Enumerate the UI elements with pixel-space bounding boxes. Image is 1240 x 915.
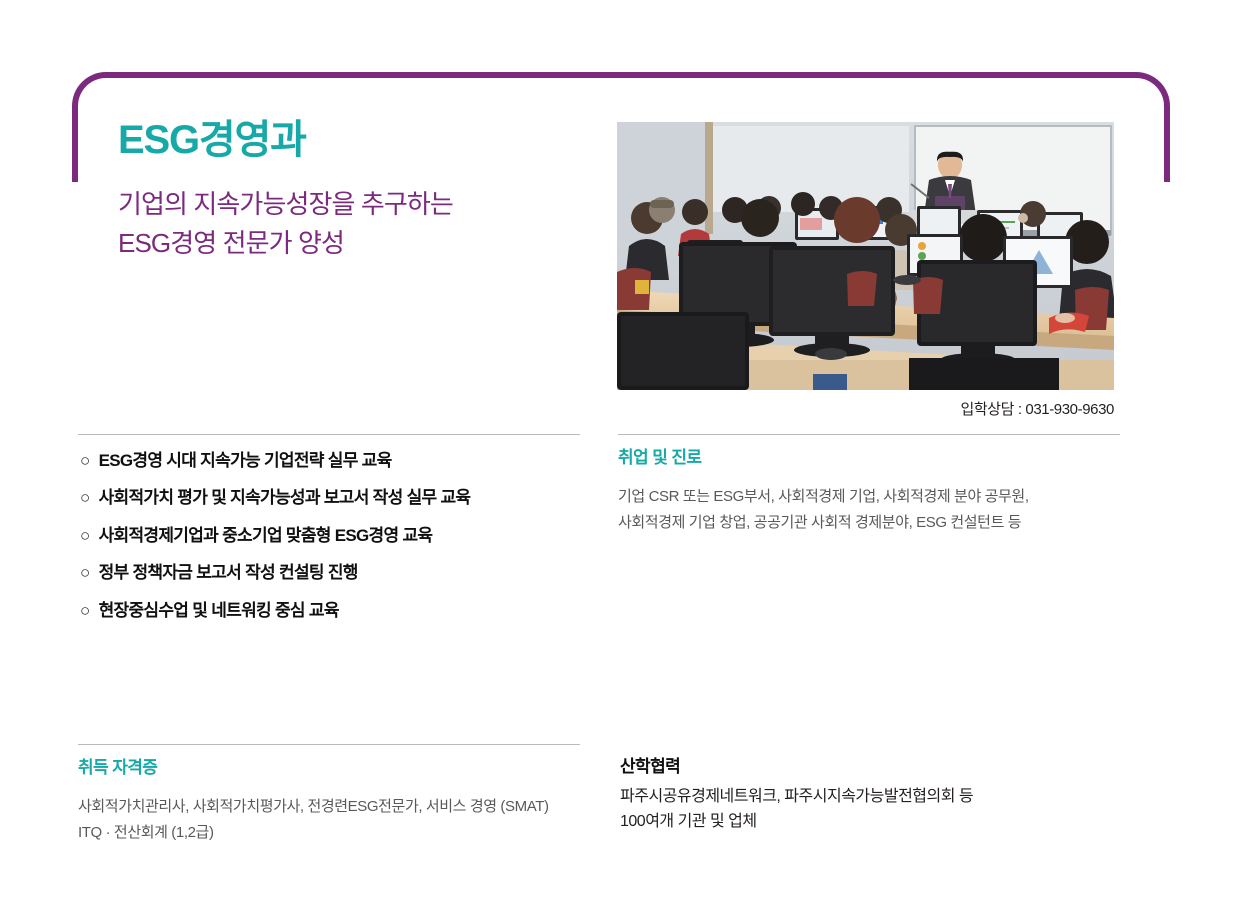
industry-cooperation-section: 산학협력 파주시공유경제네트워크, 파주시지속가능발전협의회 등 100여개 기… <box>620 756 1120 835</box>
certifications-section-title: 취득 자격증 <box>78 758 598 778</box>
industry-cooperation-body: 파주시공유경제네트워크, 파주시지속가능발전협의회 등 100여개 기관 및 업… <box>620 784 1120 835</box>
feature-list-item-label: ESG경영 시대 지속가능 기업전략 실무 교육 <box>99 450 392 472</box>
industry-cooperation-title: 산학협력 <box>620 756 1120 778</box>
circle-bullet-icon: ○ <box>80 600 90 622</box>
career-section-body: 기업 CSR 또는 ESG부서, 사회적경제 기업, 사회적경제 분야 공무원,… <box>618 484 1128 536</box>
feature-list-item: ○ESG경영 시대 지속가능 기업전략 실무 교육 <box>80 450 620 472</box>
classroom-photo-illustration <box>617 122 1114 390</box>
feature-list-item-label: 현장중심수업 및 네트워킹 중심 교육 <box>99 600 339 622</box>
classroom-photo <box>617 122 1114 390</box>
feature-list-item-label: 사회적가치 평가 및 지속가능성과 보고서 작성 실무 교육 <box>99 487 471 509</box>
divider-career <box>618 434 1120 435</box>
divider-features <box>78 434 580 435</box>
feature-list-item-label: 정부 정책자금 보고서 작성 컨설팅 진행 <box>99 562 358 584</box>
career-section-title: 취업 및 진로 <box>618 448 1128 468</box>
feature-list-item: ○정부 정책자금 보고서 작성 컨설팅 진행 <box>80 562 620 584</box>
header-block: ESG경영과 기업의 지속가능성장을 추구하는 ESG경영 전문가 양성 <box>118 118 598 264</box>
certifications-section-body: 사회적가치관리사, 사회적가치평가사, 전경련ESG전문가, 서비스 경영 (S… <box>78 794 598 846</box>
feature-list-item: ○현장중심수업 및 네트워킹 중심 교육 <box>80 600 620 622</box>
feature-list-item: ○사회적가치 평가 및 지속가능성과 보고서 작성 실무 교육 <box>80 487 620 509</box>
circle-bullet-icon: ○ <box>80 525 90 547</box>
feature-list-item-label: 사회적경제기업과 중소기업 맞춤형 ESG경영 교육 <box>99 525 433 547</box>
career-section: 취업 및 진로 기업 CSR 또는 ESG부서, 사회적경제 기업, 사회적경제… <box>618 448 1128 536</box>
circle-bullet-icon: ○ <box>80 562 90 584</box>
divider-certifications <box>78 744 580 745</box>
admissions-contact-caption: 입학상담 : 031-930-9630 <box>617 398 1114 419</box>
circle-bullet-icon: ○ <box>80 450 90 472</box>
certifications-section: 취득 자격증 사회적가치관리사, 사회적가치평가사, 전경련ESG전문가, 서비… <box>78 758 598 846</box>
page-title: ESG경영과 <box>118 118 598 163</box>
department-tagline: 기업의 지속가능성장을 추구하는 ESG경영 전문가 양성 <box>118 185 598 264</box>
circle-bullet-icon: ○ <box>80 487 90 509</box>
features-list: ○ESG경영 시대 지속가능 기업전략 실무 교육○사회적가치 평가 및 지속가… <box>80 450 620 637</box>
feature-list-item: ○사회적경제기업과 중소기업 맞춤형 ESG경영 교육 <box>80 525 620 547</box>
